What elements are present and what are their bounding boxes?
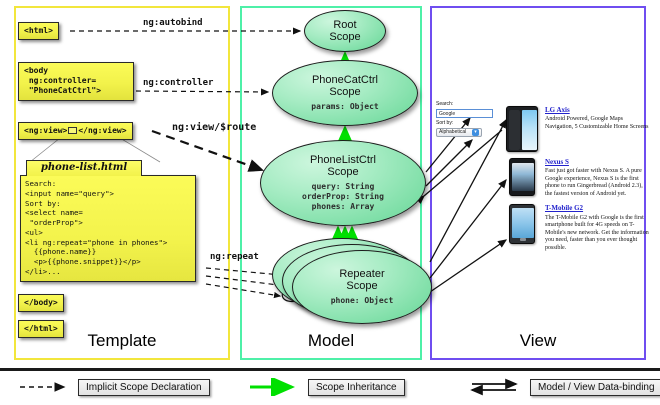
phone-touch-icon (505, 204, 539, 252)
phone-list-callout: phone-list.html Search: <input name="que… (20, 160, 196, 282)
list-item[interactable]: Nexus S Fast just got faster with Nexus … (505, 158, 653, 198)
sort-select[interactable]: Alphabetical ▾ (436, 128, 482, 137)
phone-bar-icon (505, 158, 539, 198)
callout-code: Search: <input name="query"> Sort by: <s… (20, 175, 196, 282)
legend-label: Scope Inheritance (308, 379, 405, 396)
legend-item-implicit-scope: Implicit Scope Declaration (18, 378, 210, 396)
scope-phonelistctrl: PhoneListCtrl Scope query: String orderP… (260, 140, 426, 226)
legend: Implicit Scope Declaration Scope Inherit… (0, 378, 660, 400)
body-tag-box: <body ng:controller= "PhoneCatCtrl"> (18, 62, 134, 101)
scope-phonecatctrl-props: params: Object (311, 102, 378, 112)
scope-phonecatctrl: PhoneCatCtrl Scope params: Object (272, 60, 418, 126)
legend-label: Model / View Data-binding (530, 379, 660, 396)
phone-name-link[interactable]: LG Axis (545, 106, 649, 114)
phone-slider-icon (505, 106, 539, 152)
dashed-arrow-icon (18, 378, 72, 396)
ngview-tag-box: <ng:view></ng:view> (18, 122, 133, 140)
scope-phonelistctrl-title: PhoneListCtrl Scope (310, 154, 376, 179)
list-item[interactable]: T-Mobile G2 The T-Mobile G2 with Google … (505, 204, 653, 252)
sort-label: Sort by: (436, 120, 496, 127)
scope-repeater-props: phone: Object (331, 296, 394, 306)
phone-snippet: Android Powered, Google Maps Navigation,… (545, 116, 649, 131)
green-arrow-icon (248, 378, 302, 396)
scope-repeater: Repeater Scope phone: Object (292, 250, 432, 324)
connector-label-controller: ng:controller (143, 78, 213, 88)
scope-repeater-title: Repeater Scope (339, 268, 384, 293)
view-search-form: Search: Google Sort by: Alphabetical ▾ (436, 101, 496, 137)
phone-name-link[interactable]: T-Mobile G2 (545, 204, 649, 212)
phone-list: LG Axis Android Powered, Google Maps Nav… (505, 106, 653, 258)
search-label: Search: (436, 101, 496, 108)
scope-phonelistctrl-props: query: String orderProp: String phones: … (302, 182, 384, 212)
connector-label-autobind: ng:autobind (143, 18, 203, 28)
phone-snippet: The T-Mobile G2 with Google is the first… (545, 215, 649, 253)
list-item[interactable]: LG Axis Android Powered, Google Maps Nav… (505, 106, 653, 152)
panel-label-view: View (430, 331, 646, 351)
ngview-open-label: <ng:view> (24, 126, 67, 135)
html-tag-box: <html> (18, 22, 59, 40)
chevron-down-icon: ▾ (472, 129, 479, 136)
legend-item-scope-inheritance: Scope Inheritance (248, 378, 405, 396)
connector-label-repeat: ng:repeat (210, 252, 259, 262)
search-input[interactable]: Google (436, 109, 493, 118)
legend-label: Implicit Scope Declaration (78, 379, 210, 396)
callout-filename: phone-list.html (26, 160, 142, 176)
scope-phonecatctrl-title: PhoneCatCtrl Scope (312, 74, 378, 99)
phone-snippet: Fast just got faster with Nexus S. A pur… (545, 168, 649, 198)
scope-root: Root Scope (304, 10, 386, 52)
double-arrow-icon (470, 378, 524, 396)
scope-root-title: Root Scope (329, 19, 360, 44)
view-slot-icon (68, 127, 77, 134)
ngview-close-label: </ng:view> (78, 126, 126, 135)
phone-name-link[interactable]: Nexus S (545, 158, 649, 166)
legend-item-data-binding: Model / View Data-binding (470, 378, 660, 396)
panel-label-model: Model (240, 331, 422, 351)
sort-select-value: Alphabetical (439, 128, 466, 136)
close-body-tag-box: </body> (18, 294, 64, 312)
diagram-canvas: <html> <body ng:controller= "PhoneCatCtr… (0, 0, 660, 405)
connector-label-route: ng:view/$route (172, 122, 256, 133)
panel-label-template: Template (14, 331, 230, 351)
legend-divider (0, 368, 660, 371)
